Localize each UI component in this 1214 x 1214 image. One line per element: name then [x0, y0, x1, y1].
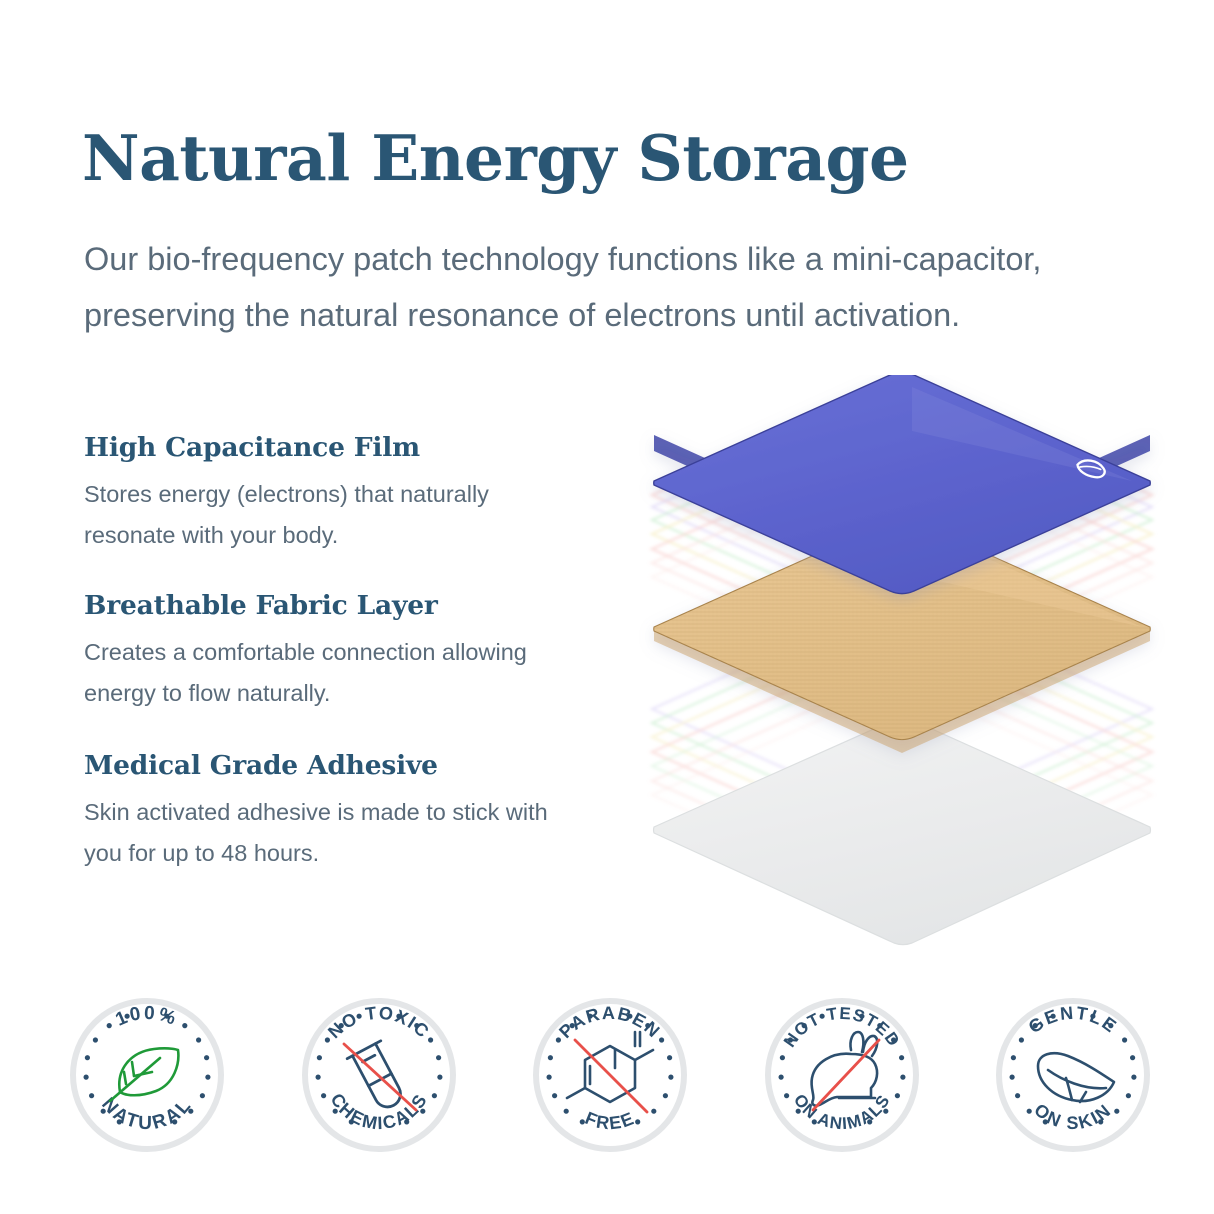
badge-paraben-free: PARABEN FREE: [523, 988, 697, 1162]
feature-list: High Capacitance Film Stores energy (ele…: [84, 432, 604, 904]
film-layer: [654, 375, 1151, 594]
badge-gentle-on-skin: GENTLE ON SKIN: [986, 988, 1160, 1162]
certification-badge-row: 100% NATURAL: [60, 988, 1160, 1168]
badge-no-toxic-chemicals: NO TOXIC CHEMICALS: [292, 988, 466, 1162]
badge-not-tested-on-animals: NOT TESTED ON ANIMALS: [755, 988, 929, 1162]
exploded-patch-illustration: [612, 375, 1192, 955]
page-title: Natural Energy Storage: [82, 125, 1082, 191]
feature-title: Breathable Fabric Layer: [84, 590, 604, 621]
feature-description: Skin activated adhesive is made to stick…: [84, 792, 584, 874]
feature-item-adhesive: Medical Grade Adhesive Skin activated ad…: [84, 750, 604, 874]
page-subtitle: Our bio-frequency patch technology funct…: [84, 231, 1064, 343]
feature-description: Creates a comfortable connection allowin…: [84, 632, 584, 714]
feature-item-film: High Capacitance Film Stores energy (ele…: [84, 432, 604, 556]
badge-100-natural: 100% NATURAL: [60, 988, 234, 1162]
feature-title: High Capacitance Film: [84, 432, 604, 463]
feature-item-fabric: Breathable Fabric Layer Creates a comfor…: [84, 590, 604, 714]
feature-description: Stores energy (electrons) that naturally…: [84, 474, 584, 556]
feature-title: Medical Grade Adhesive: [84, 750, 604, 781]
